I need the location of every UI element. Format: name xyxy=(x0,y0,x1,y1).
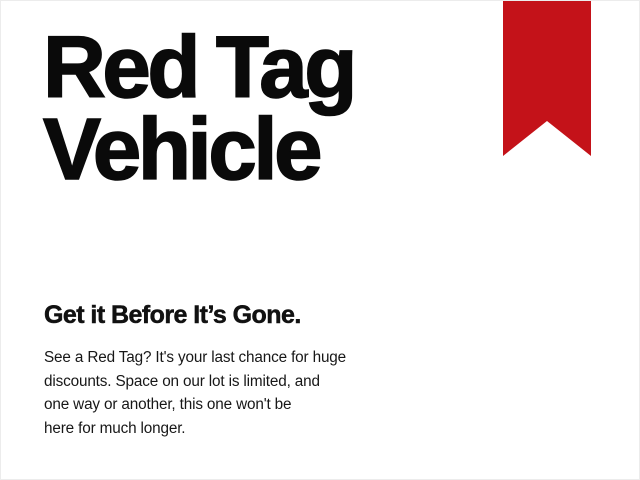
page-title: Red Tag Vehicle xyxy=(43,27,483,191)
body-copy-line-1: See a Red Tag? It's your last chance for… xyxy=(44,346,394,370)
body-copy: See a Red Tag? It's your last chance for… xyxy=(44,346,394,440)
body-copy-line-2: discounts. Space on our lot is limited, … xyxy=(44,370,394,394)
headline-line-2: Vehicle xyxy=(43,109,483,191)
headline-line-1: Red Tag xyxy=(43,27,483,109)
red-tag-vehicle-banner: Red Tag Vehicle Get it Before It’s Gone.… xyxy=(0,0,640,480)
red-tag-ribbon-icon xyxy=(503,0,591,156)
body-copy-line-4: here for much longer. xyxy=(44,417,394,441)
red-tag-ribbon xyxy=(503,0,591,156)
subheading: Get it Before It’s Gone. xyxy=(44,302,301,330)
body-copy-line-3: one way or another, this one won't be xyxy=(44,393,394,417)
